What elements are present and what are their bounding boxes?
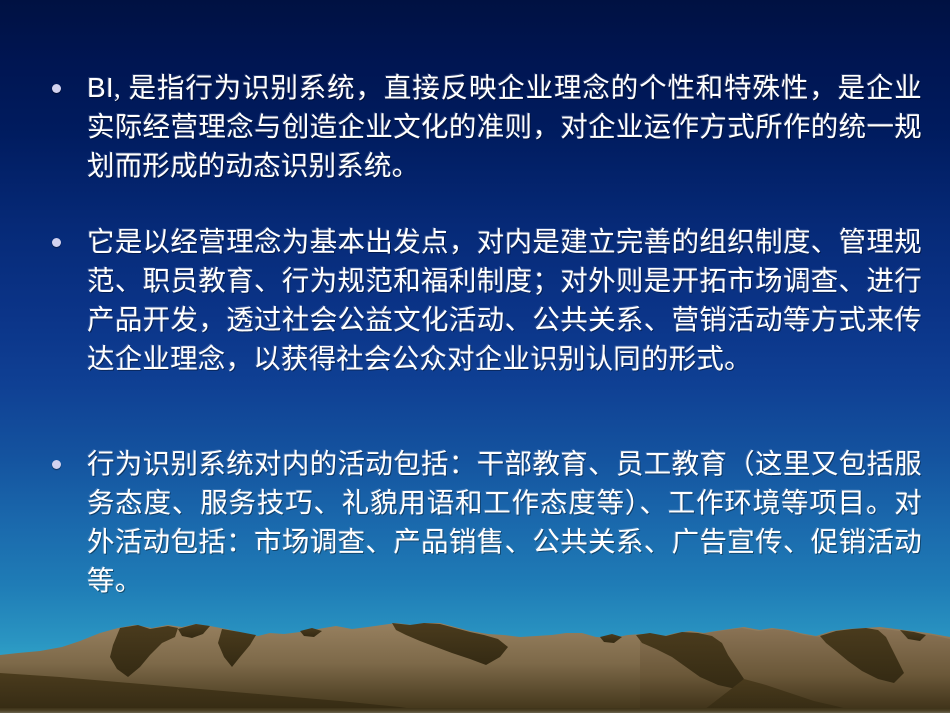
bullet-paragraph-1: BI, 是指行为识别系统，直接反映企业理念的个性和特殊性，是企业实际经营理念与创… <box>87 68 922 185</box>
bullet-paragraph-2: 它是以经营理念为基本出发点，对内是建立完善的组织制度、管理规范、职员教育、行为规… <box>87 222 922 378</box>
round-bullet-icon <box>52 460 61 469</box>
bullet-text-1: , 是指行为识别系统，直接反映企业理念的个性和特殊性，是企业实际经营理念与创造企… <box>87 72 922 181</box>
presentation-slide: BI, 是指行为识别系统，直接反映企业理念的个性和特殊性，是企业实际经营理念与创… <box>0 0 950 713</box>
bullet-paragraph-3: 行为识别系统对内的活动包括：干部教育、员工教育（这里又包括服务态度、服务技巧、礼… <box>87 444 922 600</box>
list-item: 行为识别系统对内的活动包括：干部教育、员工教育（这里又包括服务态度、服务技巧、礼… <box>52 444 922 600</box>
list-item: BI, 是指行为识别系统，直接反映企业理念的个性和特殊性，是企业实际经营理念与创… <box>52 68 922 185</box>
latin-prefix-1: BI <box>87 72 114 103</box>
list-item: 它是以经营理念为基本出发点，对内是建立完善的组织制度、管理规范、职员教育、行为规… <box>52 222 922 378</box>
bullet-text-3: 行为识别系统对内的活动包括：干部教育、员工教育（这里又包括服务态度、服务技巧、礼… <box>87 448 922 596</box>
slide-body: BI, 是指行为识别系统，直接反映企业理念的个性和特殊性，是企业实际经营理念与创… <box>0 0 950 713</box>
round-bullet-icon <box>52 84 61 93</box>
round-bullet-icon <box>52 238 61 247</box>
bullet-text-2: 它是以经营理念为基本出发点，对内是建立完善的组织制度、管理规范、职员教育、行为规… <box>87 226 922 374</box>
